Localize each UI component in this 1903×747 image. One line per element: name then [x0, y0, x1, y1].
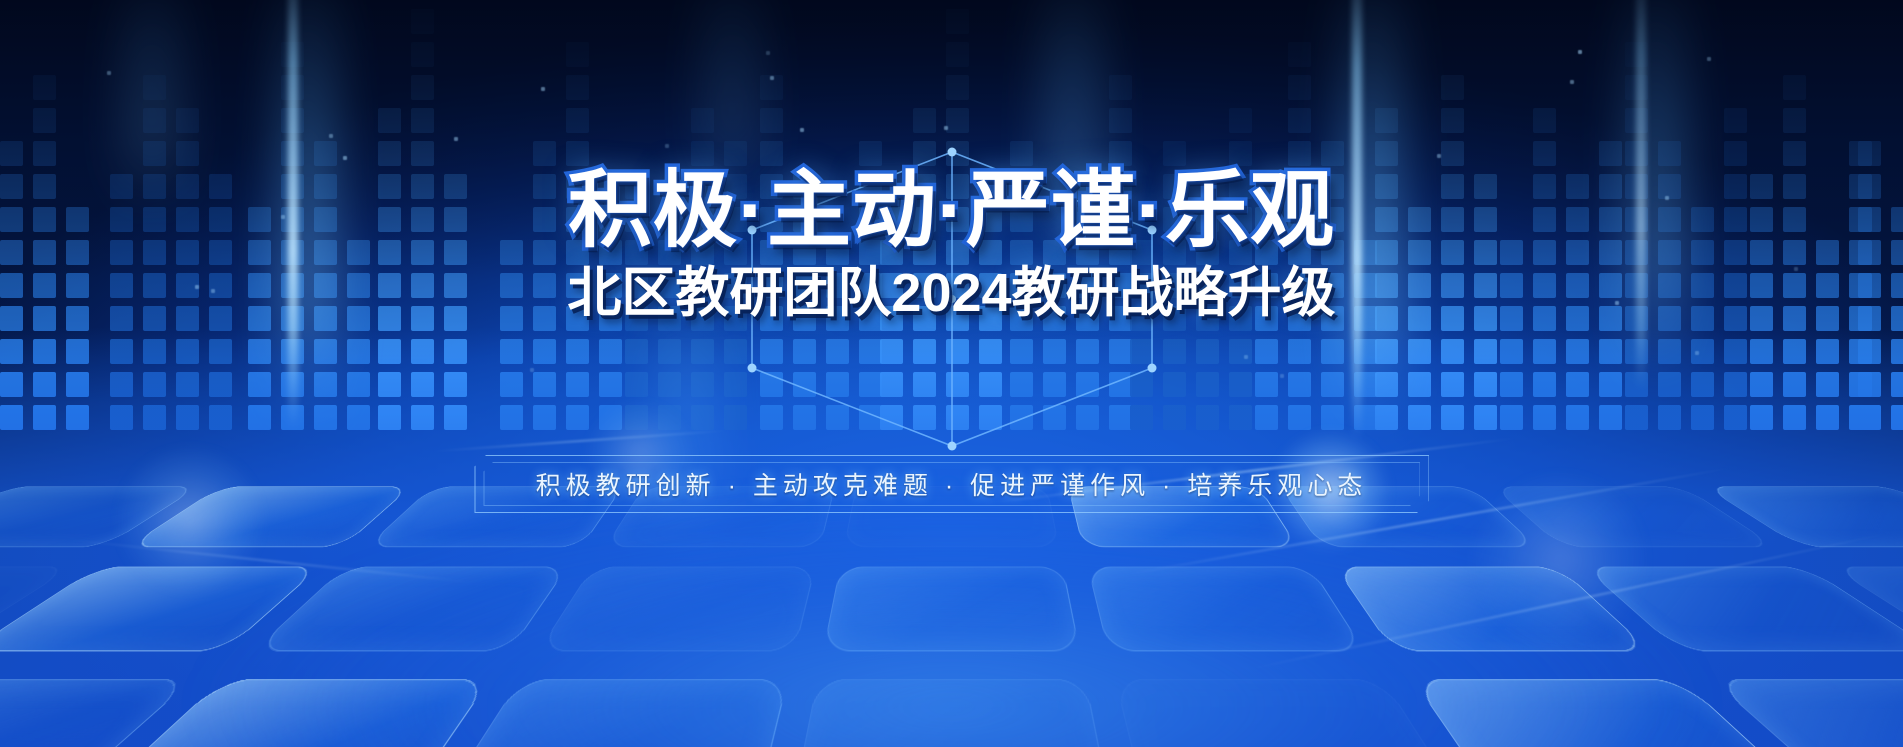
light-hotspot — [1470, 470, 1650, 650]
sparkle-fleck — [343, 156, 347, 160]
tagline-frame: 积极教研创新 · 主动攻克难题 · 促进严谨作风 · 培养乐观心态 — [474, 455, 1429, 513]
sparkle-fleck — [195, 285, 199, 289]
sparkle-fleck — [665, 144, 669, 148]
sparkle-fleck — [581, 301, 585, 305]
sparkle-fleck — [800, 128, 804, 132]
sparkle-fleck — [541, 87, 545, 91]
sparkle-fleck — [281, 215, 285, 219]
sparkle-fleck — [1794, 267, 1798, 271]
sparkle-fleck — [1280, 374, 1284, 378]
light-hotspot — [115, 445, 265, 595]
light-beam — [1040, 0, 1104, 260]
sparkle-fleck — [1665, 196, 1669, 200]
event-banner: 积极·主动·严谨·乐观 北区教研团队2024教研战略升级 积极教研创新 · 主动… — [0, 0, 1903, 747]
sparkle-fleck — [770, 76, 774, 80]
sparkle-fleck — [944, 126, 948, 130]
sparkle-fleck — [329, 134, 333, 138]
sparkle-fleck — [1273, 214, 1277, 218]
sparkle-fleck — [766, 51, 770, 55]
sparkle-fleck — [1570, 80, 1574, 84]
light-beam — [700, 0, 764, 200]
sparkle-fleck — [530, 368, 534, 372]
sparkle-fleck — [1615, 301, 1619, 305]
sparkle-fleck — [1244, 355, 1248, 359]
sparkle-fleck — [1707, 57, 1711, 61]
sparkle-fleck — [454, 137, 458, 141]
sparkle-fleck — [1437, 154, 1441, 158]
sparkle-fleck — [1578, 50, 1582, 54]
tagline-text: 积极教研创新 · 主动攻克难题 · 促进严谨作风 · 培养乐观心态 — [474, 455, 1429, 513]
sparkle-fleck — [107, 71, 111, 75]
light-beam — [120, 0, 184, 210]
sparkle-fleck — [211, 289, 215, 293]
sparkle-fleck — [1695, 351, 1699, 355]
